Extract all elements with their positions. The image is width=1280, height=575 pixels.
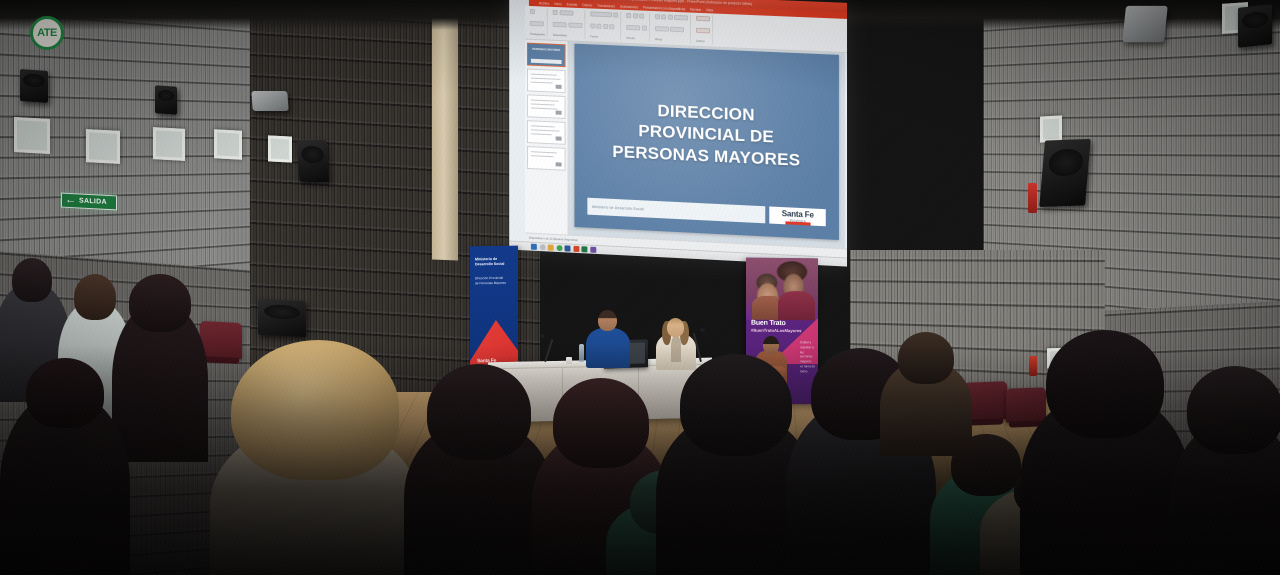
ribbon-group-paragraph[interactable]: Parrafo (624, 12, 649, 42)
line-spacing-button[interactable] (626, 25, 640, 31)
banner-purple-hashtag: #BuenTratoALosMayores (751, 328, 802, 334)
reset-button[interactable] (553, 22, 567, 28)
drinking-cup (566, 357, 572, 364)
panelist-head (598, 310, 617, 331)
layout-button[interactable] (559, 10, 573, 16)
panelist-woman-beige-blazer (656, 318, 696, 368)
audience-head-blonde (231, 340, 399, 480)
auditorium-chair (1006, 387, 1046, 422)
column-pillar (432, 0, 458, 260)
font-size-select[interactable] (613, 12, 618, 17)
ribbon-group-label: Parrafo (626, 37, 646, 41)
slide-thumbnail-title: PERSONAS MAYORES (531, 48, 562, 53)
current-slide[interactable]: DIRECCION PROVINCIAL DE PERSONAS MAYORES… (574, 44, 839, 241)
slide-thumbnail-2[interactable] (527, 68, 566, 93)
ate-union-logo: ATE (30, 16, 64, 50)
shape-oval-button[interactable] (655, 14, 660, 19)
ribbon-tab[interactable]: Transiciones (597, 3, 615, 8)
ribbon-group-label: Portapapeles (530, 33, 545, 37)
audience-head (129, 274, 191, 332)
microphone-head (700, 328, 705, 332)
slide-thumbnail-3[interactable] (527, 94, 566, 119)
italic-button[interactable] (597, 24, 602, 29)
audience-head (1187, 366, 1280, 454)
fire-extinguisher-icon (1029, 356, 1037, 376)
auditorium-photo: ← SALIDA Capacitacion Personas Mayores.p… (0, 0, 1280, 575)
slide-footer-ministry: Ministerio de Desarrollo Social (587, 198, 765, 224)
shape-rect-button[interactable] (661, 14, 666, 19)
slide-thumbnail-footer (531, 58, 562, 63)
banner-blue-subheading: Direccion Provincial de Personas Mayores (475, 276, 514, 286)
ribbon-group-label: Edicion (696, 40, 710, 44)
projection-screen: Capacitacion Personas Mayores.pptx - Pow… (509, 0, 847, 267)
audience-head (74, 274, 116, 320)
slide-footer: Ministerio de Desarrollo Social Santa Fe… (587, 198, 826, 227)
word-icon[interactable] (565, 245, 571, 251)
wall-window (268, 135, 292, 162)
panelist-torso (586, 328, 630, 368)
shape-fill-button[interactable] (655, 26, 669, 32)
audience-person-blonde (210, 424, 420, 575)
shape-outline-button[interactable] (670, 27, 684, 33)
ribbon-group-label: Fuente (590, 35, 618, 39)
wall-speaker (1039, 139, 1091, 207)
ate-logo-text: ATE (37, 27, 57, 39)
wall-window (86, 129, 120, 164)
banner-blue-heading: Ministerio de Desarrollo Social (475, 257, 514, 268)
microphone-stand (544, 339, 553, 362)
cut-button[interactable] (530, 21, 544, 27)
exit-sign: ← SALIDA (61, 193, 117, 211)
ribbon-tab[interactable]: Animaciones (620, 4, 638, 9)
ribbon-tab[interactable]: Diseno (582, 3, 592, 7)
search-icon[interactable] (539, 244, 545, 250)
exit-sign-label: SALIDA (79, 197, 107, 205)
font-color-button[interactable] (610, 24, 615, 29)
excel-icon[interactable] (581, 246, 587, 252)
banner-blue-line-2: Desarrollo Social (475, 262, 514, 268)
new-slide-button[interactable] (553, 10, 558, 15)
panelist-head (667, 318, 684, 337)
banner-purple-headline: Buen Trato (751, 320, 786, 327)
ribbon-group-editing[interactable]: Edicion (694, 15, 713, 45)
left-arrow-icon: ← (65, 195, 76, 207)
find-button[interactable] (696, 16, 710, 22)
ribbon-group-drawing[interactable]: Dibujo (653, 13, 691, 44)
ribbon-group-label: Dibujo (655, 38, 688, 42)
powerpoint-icon[interactable] (573, 246, 579, 252)
presenter-head (763, 336, 779, 354)
santa-fe-logo-bar (785, 222, 810, 226)
projector-fixture (1122, 6, 1168, 42)
slide-thumbnail-5[interactable] (527, 146, 566, 171)
banner-blue-line-4: de Personas Mayores (475, 280, 514, 285)
ribbon-tab[interactable]: Archivo (539, 1, 550, 5)
bold-button[interactable] (590, 23, 595, 28)
wall-speaker (20, 69, 48, 103)
slide-thumbnail-1[interactable]: PERSONAS MAYORES (527, 43, 566, 68)
shape-arrow-button[interactable] (668, 15, 673, 20)
underline-button[interactable] (603, 24, 608, 29)
replace-button[interactable] (696, 28, 710, 34)
microphone-head (540, 334, 545, 338)
wall-window (214, 129, 242, 159)
numbering-button[interactable] (633, 13, 638, 18)
wall-window (14, 117, 50, 154)
projector-fixture (251, 91, 288, 111)
bullets-button[interactable] (626, 13, 631, 18)
audience-head (26, 358, 104, 428)
photo-person-b (778, 291, 815, 320)
ribbon-tab[interactable]: Vista (706, 8, 713, 12)
wall-speaker (297, 140, 330, 183)
ribbon-tab[interactable]: Inicio (554, 2, 561, 6)
wall-speaker (258, 299, 306, 338)
windows-start-icon[interactable] (531, 244, 537, 250)
wall-window (1040, 115, 1062, 142)
panelist-man-blue-shirt (586, 310, 630, 366)
media-icon[interactable] (590, 247, 596, 253)
folder-icon[interactable] (548, 245, 554, 251)
ribbon-tab[interactable]: Insertar (567, 2, 578, 6)
ribbon-group-clipboard[interactable]: Portapapeles (528, 8, 548, 38)
chrome-icon[interactable] (556, 245, 562, 251)
audience-person (112, 302, 208, 462)
align-left-button[interactable] (639, 13, 644, 18)
audience-head (680, 354, 792, 456)
slide-editing-stage[interactable]: DIRECCION PROVINCIAL DE PERSONAS MAYORES… (569, 41, 845, 248)
audience-head (553, 378, 649, 468)
slide-thumbnail-panel[interactable]: PERSONAS MAYORES (525, 40, 569, 235)
wall-speaker (155, 85, 177, 115)
ribbon-group-label: Diapositivas (553, 34, 582, 38)
audience-head (1046, 330, 1164, 438)
ribbon-tab[interactable]: Revisar (690, 7, 701, 11)
water-bottle (579, 344, 584, 362)
columns-button[interactable] (642, 26, 647, 31)
slide-title: DIRECCION PROVINCIAL DE PERSONAS MAYORES (606, 97, 806, 171)
font-family-select[interactable] (590, 11, 612, 17)
fire-extinguisher-icon (1028, 183, 1037, 213)
ribbon-group-slides[interactable]: Diapositivas (551, 9, 585, 39)
slide-thumbnail-4[interactable] (527, 120, 566, 145)
audience-head (427, 364, 531, 460)
santa-fe-logo: Santa Fe Provincia (770, 207, 826, 227)
banner-purple-body: Cuidar y respetar a las personas mayores… (800, 340, 815, 374)
audience-person (0, 392, 130, 575)
audience-person (1020, 392, 1190, 575)
wall-window (153, 127, 185, 161)
quick-styles-button[interactable] (674, 15, 688, 21)
audience-person (880, 360, 972, 456)
ribbon-group-font[interactable]: Fuente (588, 10, 621, 40)
banner-elderly-photo (746, 258, 818, 321)
auditorium-chair (200, 321, 242, 359)
ministry-label: Ministerio de Desarrollo Social (592, 205, 644, 212)
section-button[interactable] (568, 22, 582, 28)
audience-head (12, 258, 52, 302)
paste-button[interactable] (530, 9, 535, 14)
audience-head (898, 332, 954, 384)
wall-speaker (1238, 4, 1272, 48)
